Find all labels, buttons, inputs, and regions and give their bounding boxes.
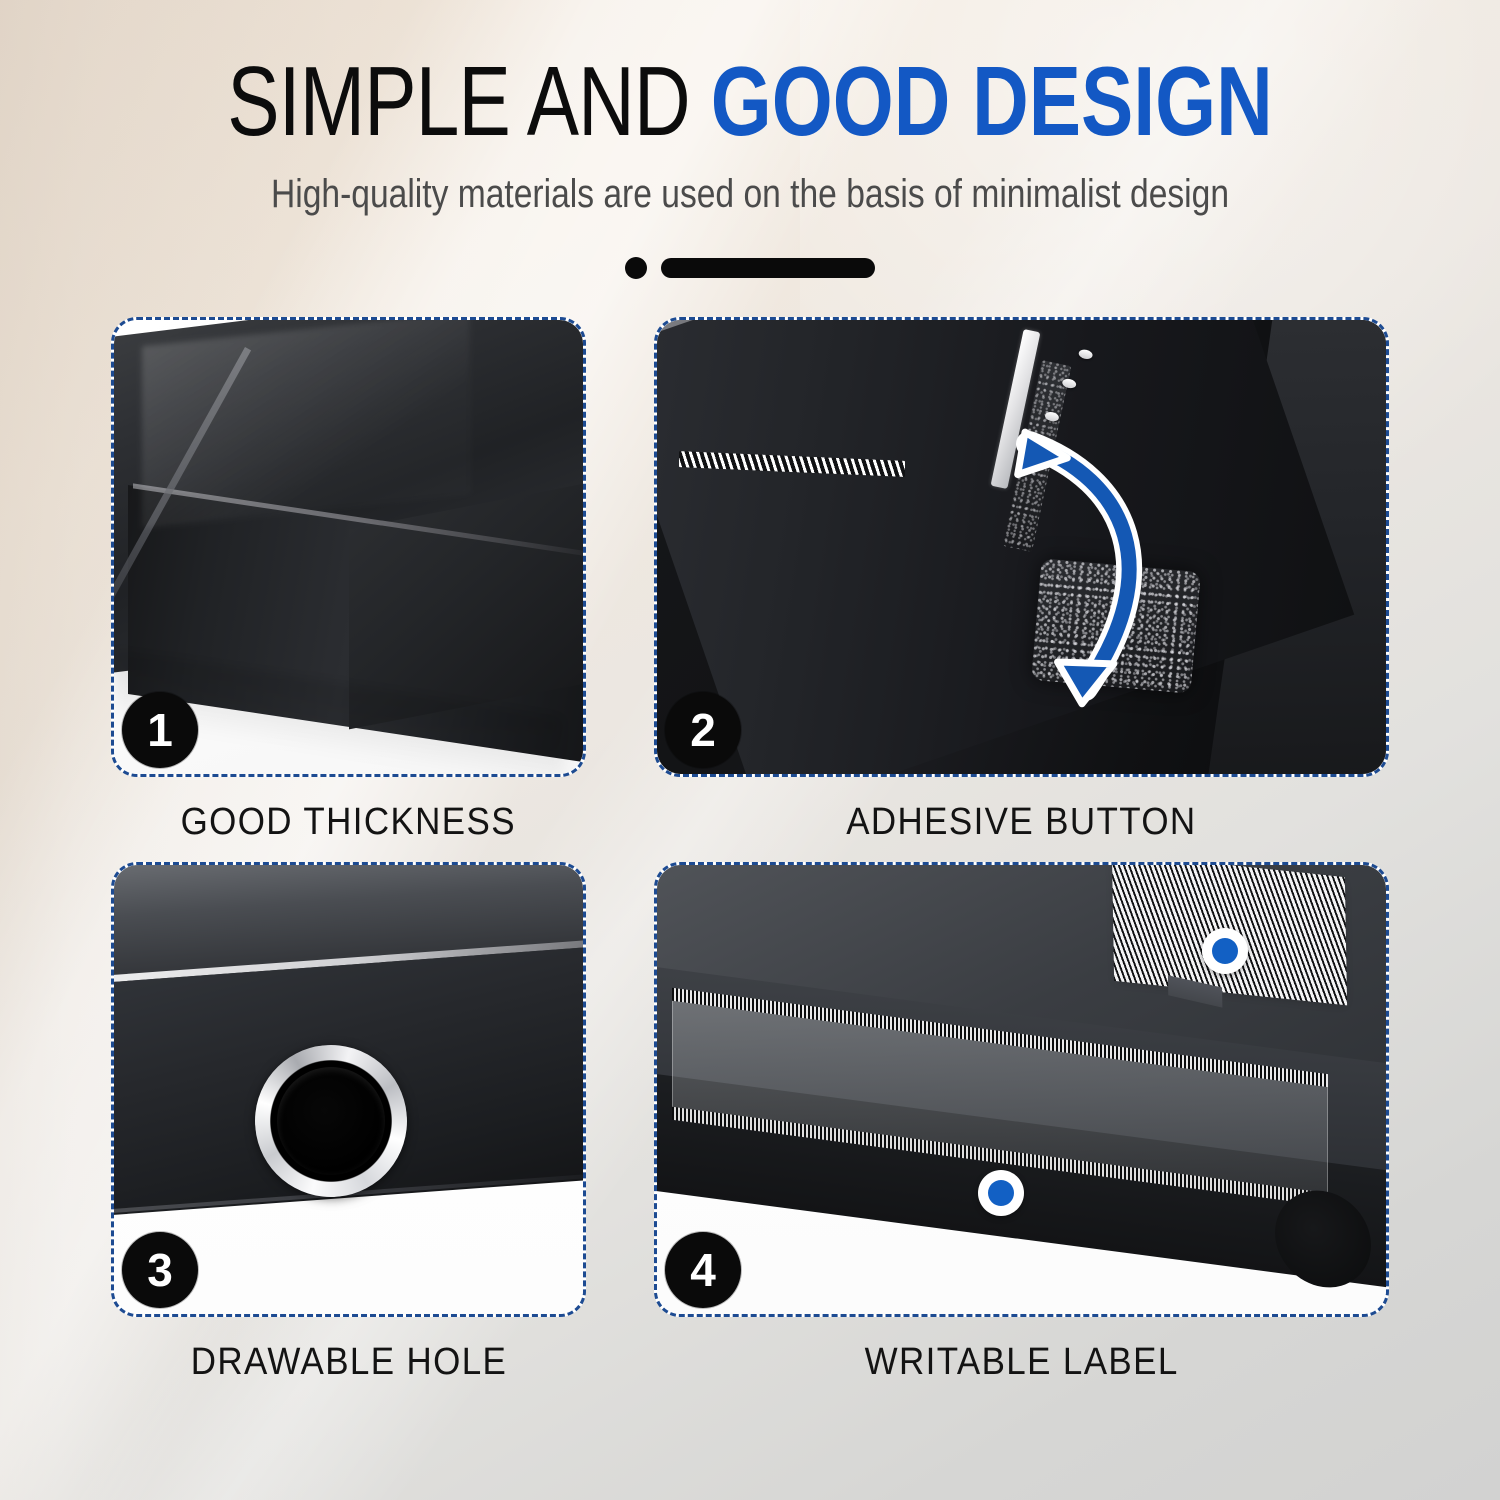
- feature-caption-3: DRAWABLE HOLE: [190, 1341, 506, 1384]
- step-badge-1: 1: [122, 692, 198, 768]
- feature-cell-2: 2 ADHESIVE BUTTON: [654, 317, 1389, 844]
- title-accent-part: GOOD DESIGN: [711, 46, 1273, 156]
- header: SIMPLE AND GOOD DESIGN High-quality mate…: [0, 0, 1500, 279]
- label-marker-dot-spine: [978, 1170, 1024, 1216]
- label-marker-dot-cover: [1202, 928, 1248, 974]
- feature-caption-1: GOOD THICKNESS: [181, 801, 516, 844]
- step-badge-4: 4: [665, 1232, 741, 1308]
- divider: [625, 257, 875, 279]
- page-subtitle: High-quality materials are used on the b…: [120, 172, 1380, 217]
- divider-bar-icon: [661, 258, 875, 278]
- feature-caption-2: ADHESIVE BUTTON: [846, 801, 1196, 844]
- rotation-arrow-icon: [1007, 420, 1217, 710]
- step-badge-2: 2: [665, 692, 741, 768]
- divider-dot-icon: [625, 257, 647, 279]
- feature-panel-4[interactable]: 4: [654, 862, 1389, 1317]
- page-title: SIMPLE AND GOOD DESIGN: [150, 52, 1350, 150]
- feature-caption-4: WRITABLE LABEL: [864, 1341, 1178, 1384]
- feature-cell-3: 3 DRAWABLE HOLE: [111, 862, 586, 1384]
- infographic-page: SIMPLE AND GOOD DESIGN High-quality mate…: [0, 0, 1500, 1500]
- title-plain-part: SIMPLE AND: [227, 46, 711, 156]
- feature-cell-1: 1 GOOD THICKNESS: [111, 317, 586, 844]
- step-badge-3: 3: [122, 1232, 198, 1308]
- feature-image-4: [657, 865, 1386, 1314]
- feature-image-2: [657, 320, 1386, 774]
- feature-panel-1[interactable]: 1: [111, 317, 586, 777]
- feature-cell-4: 4 WRITABLE LABEL: [654, 862, 1389, 1384]
- feature-grid: 1 GOOD THICKNESS: [95, 317, 1405, 1384]
- feature-panel-3[interactable]: 3: [111, 862, 586, 1317]
- feature-panel-2[interactable]: 2: [654, 317, 1389, 777]
